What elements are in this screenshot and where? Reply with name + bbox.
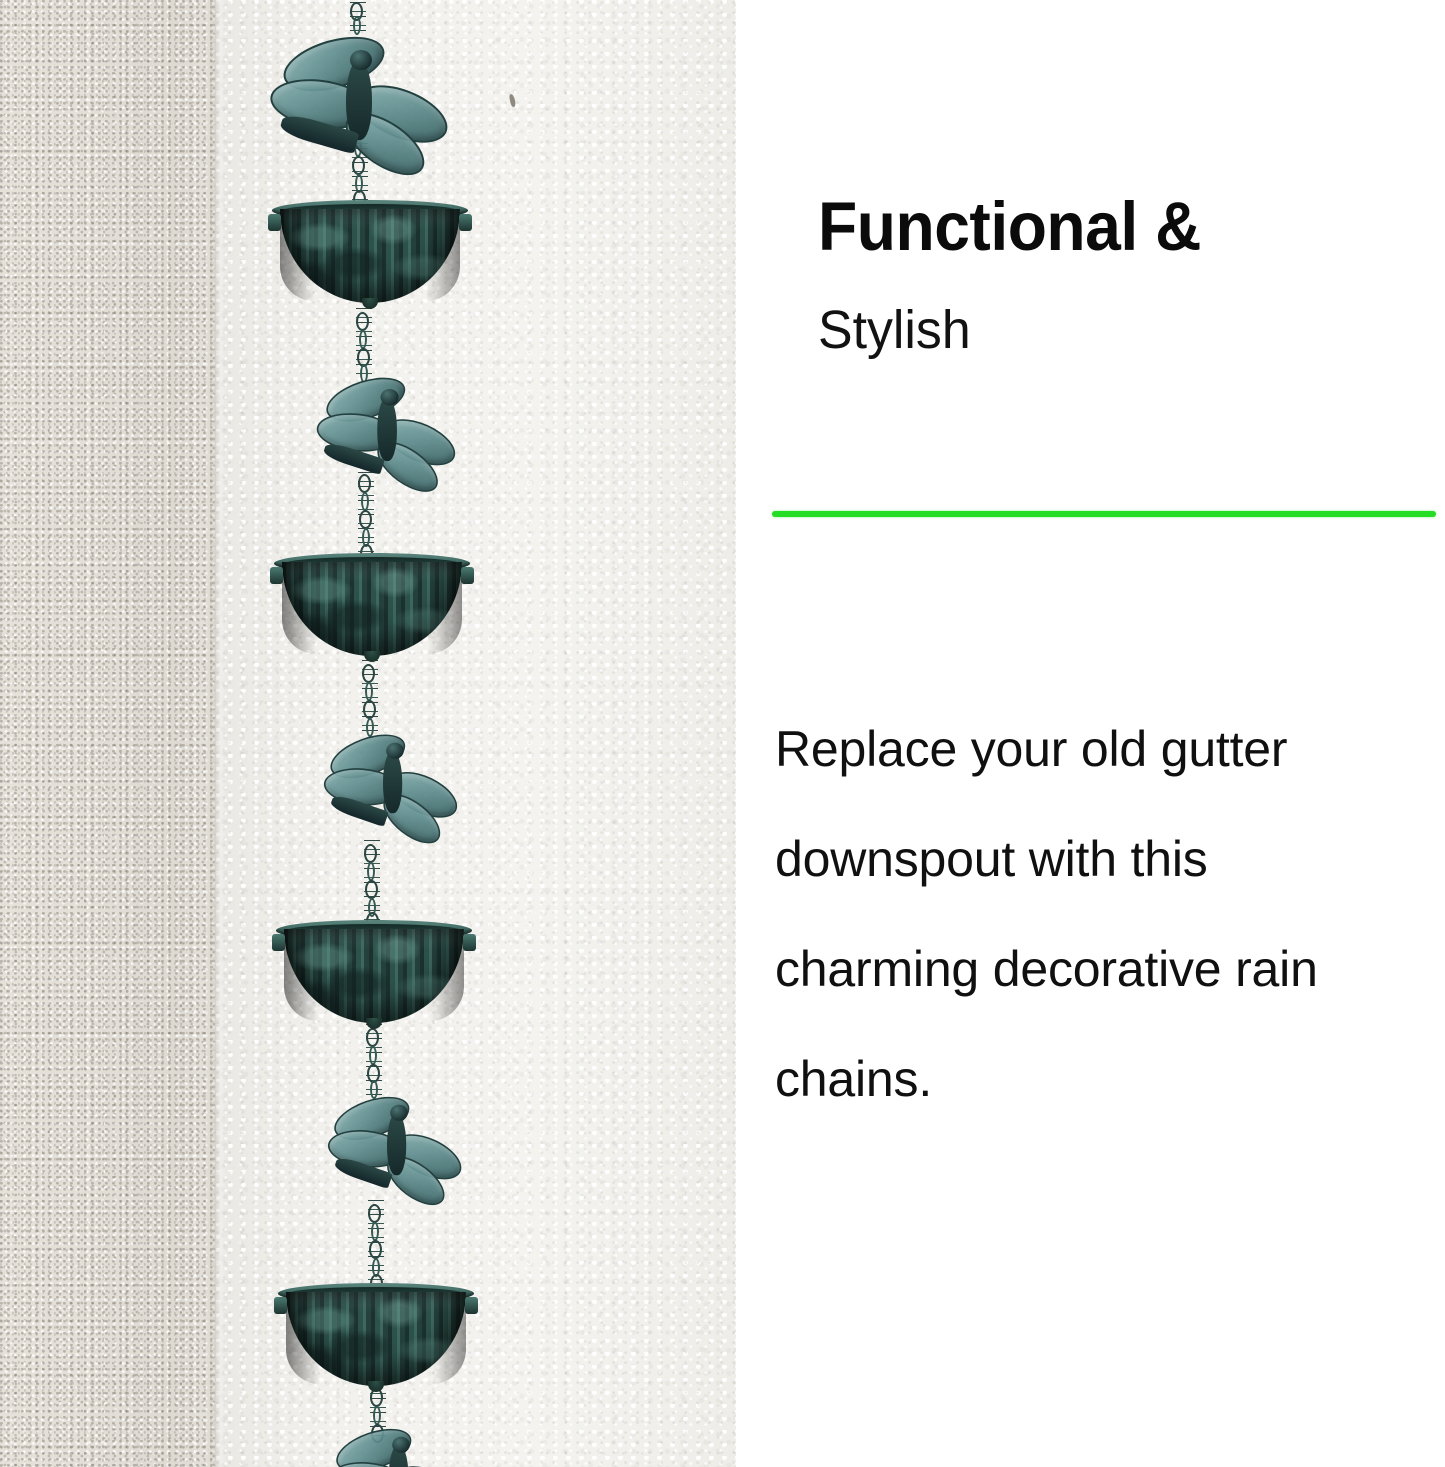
cup-body (280, 209, 460, 303)
rain-chain-cup (276, 920, 472, 1024)
product-feature-card: Functional & Stylish Replace your old gu… (0, 0, 1445, 1467)
dragonfly-body (387, 1113, 406, 1175)
dragonfly-ornament (262, 18, 452, 178)
dragonfly-ornament (317, 1416, 469, 1467)
chain-link (359, 510, 372, 529)
dragonfly-head (386, 743, 404, 759)
dragonfly-head (381, 389, 399, 405)
chain-link (356, 312, 369, 331)
rain-chain-assembly (0, 0, 736, 1467)
dragonfly-head (350, 50, 372, 70)
chain-link (363, 700, 376, 719)
chain-link (369, 1046, 377, 1065)
dragonfly-head (392, 1437, 410, 1453)
cup-body (286, 1292, 466, 1386)
cup-lug (268, 214, 281, 231)
cup-lug (270, 567, 283, 584)
chain-link (366, 1028, 379, 1047)
green-divider-rule (772, 511, 1436, 517)
dragonfly-ornament (305, 366, 461, 497)
cup-lug (272, 934, 285, 951)
dragonfly-ornament (311, 722, 463, 850)
body-copy: Replace your old gutter downspout with t… (775, 694, 1425, 1134)
chain-link (367, 862, 375, 881)
chain-link (371, 1222, 379, 1241)
headline-block: Functional & Stylish (818, 192, 1418, 357)
chain-link (365, 682, 373, 701)
chain-link (362, 664, 375, 683)
cup-drip-spout (362, 298, 378, 309)
cup-body (282, 562, 462, 656)
rain-chain-cup (278, 1283, 474, 1387)
dragonfly-ornament (315, 1084, 467, 1212)
dragonfly-body (383, 751, 402, 813)
dragonfly-head (390, 1105, 408, 1121)
rain-chain-cup (272, 200, 468, 304)
headline: Functional & (818, 192, 1376, 261)
chain-link (369, 1240, 382, 1259)
cup-lug (465, 1297, 478, 1314)
chain-link (359, 330, 367, 349)
cup-lug (461, 567, 474, 584)
cup-body (284, 929, 464, 1023)
product-photo (0, 0, 736, 1467)
cup-lug (463, 934, 476, 951)
dragonfly-body (346, 60, 372, 140)
rain-chain-cup (274, 553, 470, 657)
cup-lug (459, 214, 472, 231)
dragonfly-body (377, 397, 397, 461)
chain-link (365, 880, 378, 899)
cup-lug (274, 1297, 287, 1314)
subheadline: Stylish (818, 261, 1394, 357)
